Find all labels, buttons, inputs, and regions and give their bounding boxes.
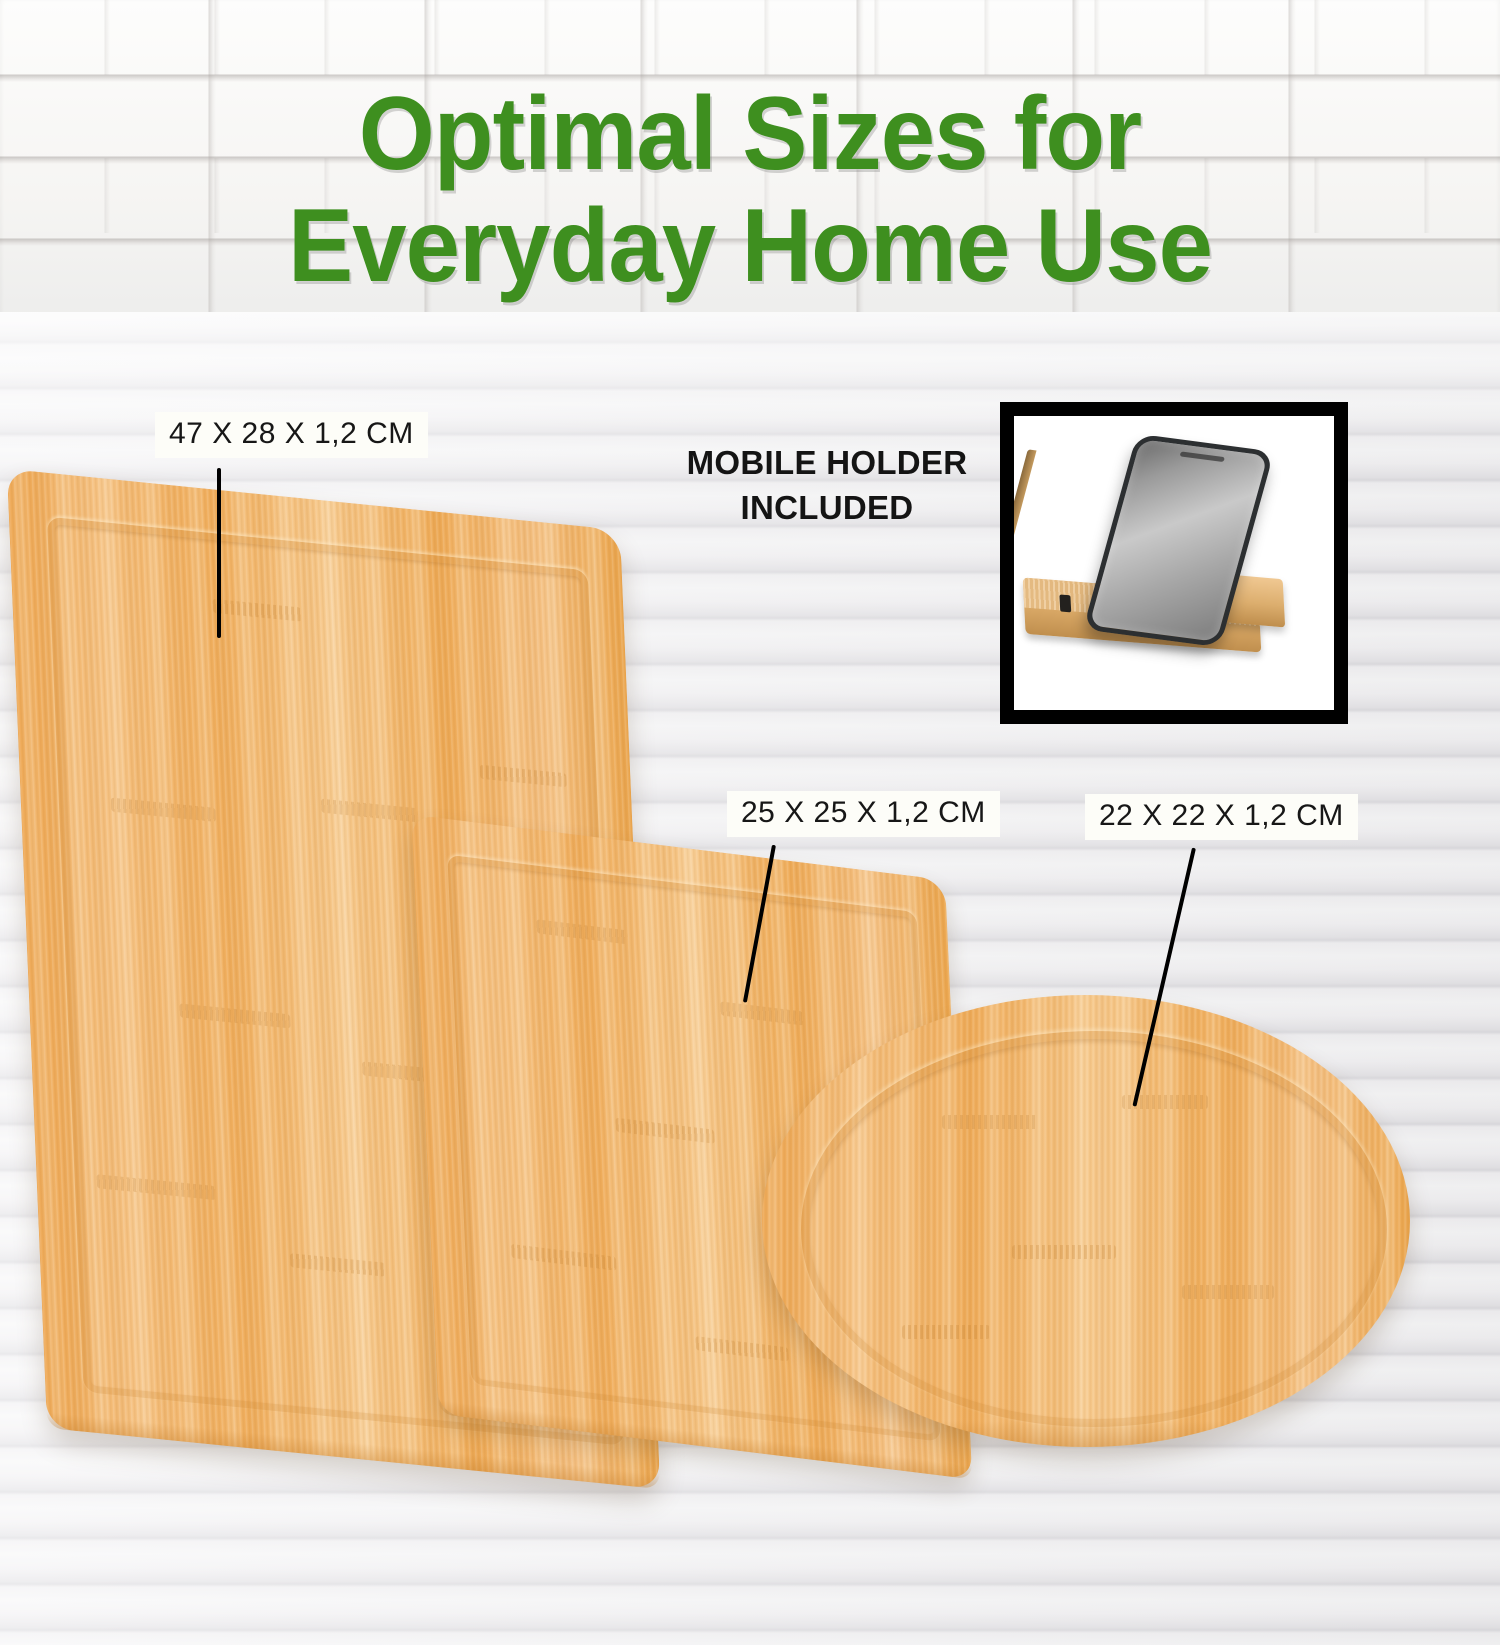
mobile-holder-caption-line-1: MOBILE HOLDER [636, 440, 1018, 485]
phone-stand-notch-left [1059, 594, 1071, 612]
dimension-label-large-board: 47 X 28 X 1,2 CM [155, 412, 428, 458]
mobile-holder-caption: MOBILE HOLDER INCLUDED [636, 440, 1018, 530]
mobile-holder-photo-frame [1000, 402, 1348, 724]
mobile-holder-photo [1014, 416, 1334, 710]
infographic-canvas: Optimal Sizes for Everyday Home Use [0, 0, 1500, 1645]
board-edge-round [762, 1421, 1410, 1447]
mobile-holder-caption-line-2: INCLUDED [636, 485, 1018, 530]
page-title: Optimal Sizes for Everyday Home Use [0, 78, 1500, 302]
juice-groove-round [801, 1031, 1387, 1427]
leader-line-large-board [217, 468, 221, 638]
dimension-label-round-board: 22 X 22 X 1,2 CM [1085, 794, 1358, 840]
title-line-1: Optimal Sizes for [45, 78, 1455, 190]
round-serving-board [762, 995, 1410, 1447]
dimension-label-medium-board: 25 X 25 X 1,2 CM [727, 791, 1000, 837]
phone-earpiece [1179, 451, 1224, 462]
title-line-2: Everyday Home Use [45, 190, 1455, 302]
